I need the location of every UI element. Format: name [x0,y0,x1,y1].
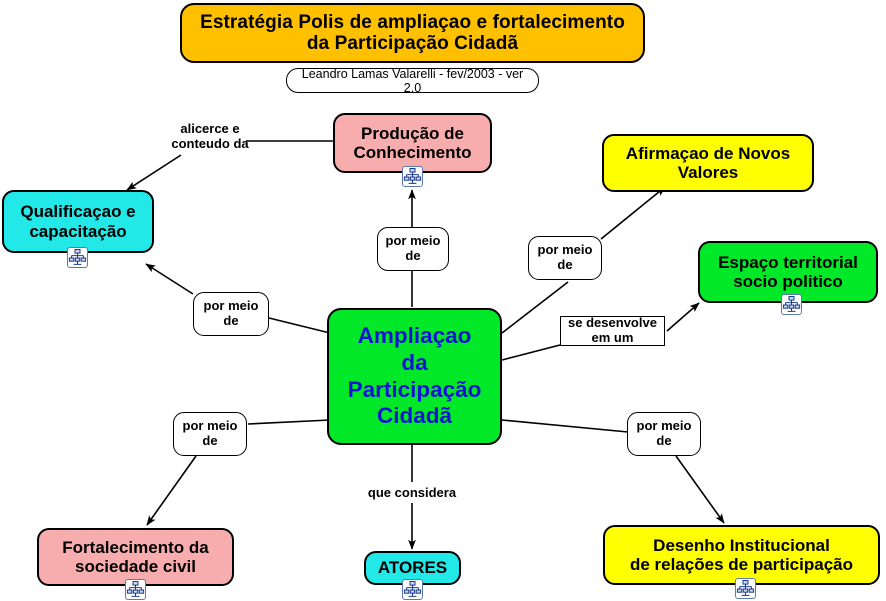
map-title: Estratégia Polis de ampliaçao e fortalec… [180,3,645,63]
link-line-afirmacao-a [502,282,568,333]
concept-tree-icon[interactable] [781,294,802,315]
link-label-por-meio-de-producao[interactable]: por meio de [377,227,449,271]
node-qualificacao-line2: capacitação [29,222,126,241]
link-label-espaco-line1: se desenvolve [568,315,657,330]
link-label-qualificacao-line2: de [223,313,238,328]
link-label-afirmacao-line2: de [557,257,572,272]
link-label-por-meio-de-desenho[interactable]: por meio de [627,412,701,456]
node-fortalecimento-line1: Fortalecimento da [62,538,208,557]
node-central-line1: Ampliaçao [358,323,472,348]
link-line-afirmacao-b [601,187,665,239]
link-label-afirmacao-line1: por meio [538,242,593,257]
concept-tree-icon[interactable] [67,247,88,268]
node-qualificacao-e-capacitacao[interactable]: Qualificaçao e capacitação [2,190,154,253]
link-label-producao-line1: por meio [386,233,441,248]
link-label-que-considera[interactable]: que considera [358,483,466,503]
link-label-producao-line2: de [405,248,420,263]
link-line-espaco-a [502,345,560,360]
link-line-desenho-b [676,456,724,523]
link-label-alicerce-e-conteudo-da[interactable]: alicerce e conteudo da [152,119,268,155]
link-label-desenho-line1: por meio [637,418,692,433]
link-line-qualificacao-a [269,318,330,333]
link-label-atores-text: que considera [368,486,456,501]
link-line-qualificacao-b [146,264,193,294]
concept-tree-icon[interactable] [735,578,756,599]
map-title-line1: Estratégia Polis de ampliaçao e fortalec… [200,12,625,33]
concept-tree-icon[interactable] [402,166,423,187]
link-label-por-meio-de-afirmacao[interactable]: por meio de [528,236,602,280]
node-producao-line1: Produção de [361,124,464,143]
node-desenho-institucional[interactable]: Desenho Institucional de relações de par… [603,525,880,585]
link-label-fortalecimento-line2: de [202,433,217,448]
node-central-line2: da [401,350,427,375]
link-label-alicerce-line2: conteudo da [171,136,248,151]
node-producao-line2: Conhecimento [353,143,471,162]
node-espaco-line2: socio politico [733,272,843,291]
map-subtitle-text: Leandro Lamas Valarelli - fev/2003 - ver… [287,67,538,95]
concept-tree-icon[interactable] [402,579,423,600]
link-line-alicerce-b [127,155,181,190]
node-fortalecimento-da-sociedade-civil[interactable]: Fortalecimento da sociedade civil [37,528,234,586]
link-line-fortalecimento-a [248,420,330,424]
concept-tree-icon[interactable] [125,579,146,600]
node-central-line4: Cidadã [377,403,452,428]
node-ampliacao-da-participacao-cidada[interactable]: Ampliaçao da Participação Cidadã [327,308,502,445]
link-label-por-meio-de-qualificacao[interactable]: por meio de [193,292,269,336]
node-desenho-line1: Desenho Institucional [653,536,830,555]
node-qualificacao-line1: Qualificaçao e [20,202,135,221]
link-label-alicerce-line1: alicerce e [180,121,239,136]
link-label-se-desenvolve-em-um[interactable]: se desenvolve em um [560,316,665,346]
node-fortalecimento-line2: sociedade civil [75,557,196,576]
node-afirmacao-de-novos-valores[interactable]: Afirmaçao de Novos Valores [602,134,814,192]
link-label-desenho-line2: de [656,433,671,448]
link-line-espaco-b [667,303,699,331]
link-label-qualificacao-line1: por meio [204,298,259,313]
concept-map-canvas: Estratégia Polis de ampliaçao e fortalec… [0,0,886,601]
node-afirmacao-line1: Afirmaçao de Novos [626,144,790,163]
link-label-fortalecimento-line1: por meio [183,418,238,433]
node-central-line3: Participação [348,377,482,402]
link-label-espaco-line2: em um [592,330,634,345]
map-subtitle: Leandro Lamas Valarelli - fev/2003 - ver… [286,68,539,93]
link-label-por-meio-de-fortalecimento[interactable]: por meio de [173,412,247,456]
node-afirmacao-line2: Valores [678,163,739,182]
map-title-line2: da Participação Cidadã [307,33,518,54]
node-producao-de-conhecimento[interactable]: Produção de Conhecimento [333,113,492,173]
node-desenho-line2: de relações de participação [630,555,853,574]
link-line-desenho-a [502,420,628,432]
node-espaco-line1: Espaço territorial [718,253,858,272]
node-atores-label: ATORES [372,558,453,577]
link-line-fortalecimento-b [147,456,196,525]
